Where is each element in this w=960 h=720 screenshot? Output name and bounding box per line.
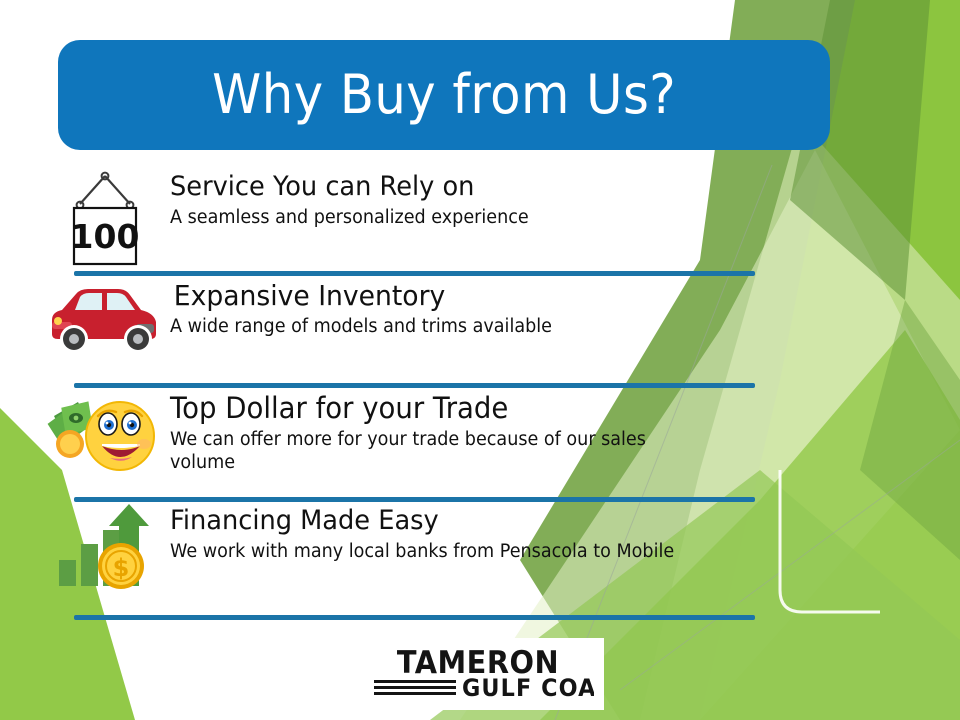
dollar-sign-glyph: $	[113, 554, 130, 582]
feature-list: 100 Service You can Rely on A seamless a…	[0, 168, 960, 620]
feature-subtitle: We work with many local banks from Pensa…	[170, 541, 702, 564]
hanging-sign-100-icon: 100	[40, 168, 170, 270]
feature-text-block: Service You can Rely on A seamless and p…	[170, 168, 960, 230]
feature-subtitle: A seamless and personalized experience	[170, 207, 702, 230]
feature-row: $ Financing Made Easy We work with many …	[0, 502, 960, 620]
logo-tagline: GULF COAST	[462, 674, 594, 702]
tameron-gulf-coast-logo: TAMERON GULF COAST	[352, 638, 604, 710]
sign-number-label: 100	[71, 217, 140, 256]
red-car-icon	[40, 276, 170, 360]
feature-text-block: Financing Made Easy We work with many lo…	[170, 502, 960, 564]
feature-divider	[74, 615, 755, 620]
feature-title: Expansive Inventory	[170, 280, 864, 311]
feature-title: Service You can Rely on	[170, 172, 864, 202]
feature-subtitle: We can offer more for your trade because…	[170, 429, 702, 474]
feature-subtitle: A wide range of models and trims availab…	[170, 316, 702, 339]
title-banner: Why Buy from Us?	[58, 40, 830, 150]
growth-chart-coin-icon: $	[40, 502, 170, 594]
feature-title: Financing Made Easy	[170, 506, 864, 536]
feature-text-block: Expansive Inventory A wide range of mode…	[170, 276, 960, 339]
slide-canvas: Why Buy from Us? 100 Service You can	[0, 0, 960, 720]
feature-title: Top Dollar for your Trade	[170, 392, 864, 424]
feature-text-block: Top Dollar for your Trade We can offer m…	[170, 388, 960, 475]
feature-row: 100 Service You can Rely on A seamless a…	[0, 168, 960, 276]
feature-row: Expansive Inventory A wide range of mode…	[0, 276, 960, 388]
feature-row: Top Dollar for your Trade We can offer m…	[0, 388, 960, 502]
money-smiley-icon	[40, 388, 170, 480]
page-title: Why Buy from Us?	[212, 68, 676, 122]
logo-speed-lines	[374, 680, 456, 695]
